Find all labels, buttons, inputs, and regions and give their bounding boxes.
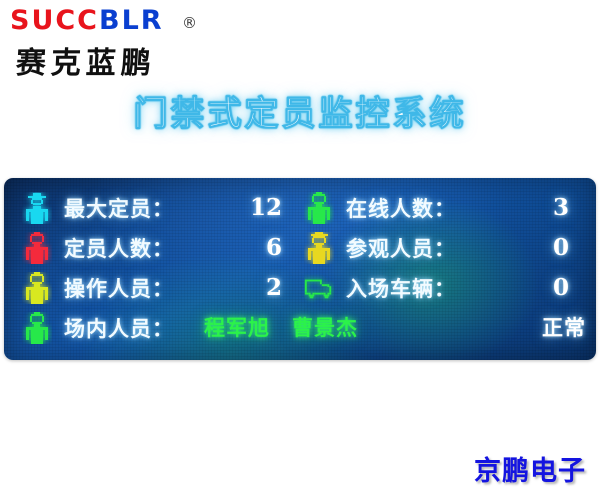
metric-value: 12 [250, 188, 282, 228]
led-row: 最大定员： 12 在线人数 [4, 188, 596, 228]
led-row: 操作人员： 2 [4, 268, 596, 308]
person-icon [22, 312, 52, 344]
metric-value: 2 [266, 268, 282, 308]
person-icon [22, 232, 52, 264]
metric-label: 在线人数： [346, 193, 456, 223]
metric-label: 入场车辆： [346, 273, 456, 303]
page-title: 门禁式定员监控系统 [0, 86, 600, 135]
metric-label: 参观人员： [346, 233, 456, 263]
brand-logo: SUCCBLR ® 赛克蓝鹏 [10, 6, 230, 70]
vendor-mark: 京鹏电子 [474, 449, 586, 488]
metric-label: 定员人数： [64, 233, 174, 263]
metric-max-capacity: 最大定员： 12 [22, 188, 292, 228]
metric-visitor-count: 参观人员： 0 [304, 228, 579, 268]
person-icon [304, 192, 334, 224]
metric-value: 0 [553, 268, 569, 308]
person-icon [22, 272, 52, 304]
metric-value: 0 [553, 228, 569, 268]
metric-label: 操作人员： [64, 273, 174, 303]
led-display-panel: 最大定员： 12 在线人数 [4, 178, 596, 360]
brand-wordmark-red: SUCC [10, 5, 99, 36]
metric-value: 3 [553, 188, 569, 228]
led-row: 定员人数： 6 [4, 228, 596, 268]
metric-operator-count: 操作人员： 2 [22, 268, 292, 308]
onsite-personnel-names: 程军旭 曹景杰 [204, 308, 358, 348]
status-badge: 正常 [542, 308, 586, 348]
person-cap-icon [22, 192, 52, 224]
brand-chinese-name: 赛克蓝鹏 [15, 38, 157, 82]
metric-value: 6 [266, 228, 282, 268]
truck-icon [304, 272, 334, 304]
metric-label: 场内人员： [64, 313, 174, 343]
metric-assigned-count: 定员人数： 6 [22, 228, 292, 268]
brand-wordmark: SUCCBLR [10, 6, 230, 36]
metric-vehicles-entered: 入场车辆： 0 [304, 268, 579, 308]
person-visitor-icon [304, 232, 334, 264]
metric-online-count: 在线人数： 3 [304, 188, 579, 228]
led-row: 场内人员： 程军旭 曹景杰 正常 [4, 308, 596, 348]
led-rows-container: 最大定员： 12 在线人数 [4, 178, 596, 360]
metric-label: 最大定员： [64, 193, 174, 223]
brand-wordmark-blue: BLR [99, 5, 164, 36]
registered-trademark-icon: ® [182, 14, 197, 32]
